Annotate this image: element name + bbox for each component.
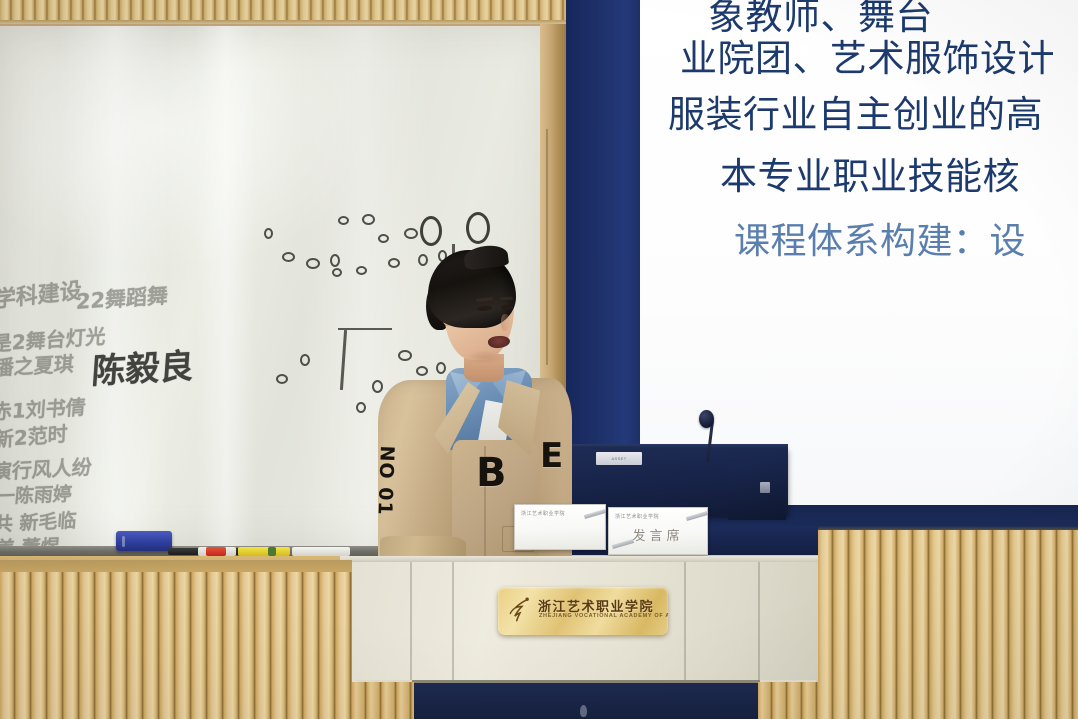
slide-text-line: 本专业职业技能核 <box>720 146 1020 200</box>
green-marker-cap <box>268 547 276 556</box>
laptop-asset-sticker: ASSET <box>596 452 642 465</box>
jacket-sleeve-text: NO 01 <box>374 445 398 516</box>
whiteboard-circle-mark <box>282 252 295 262</box>
nose <box>501 314 510 331</box>
whiteboard-circle-mark <box>356 266 367 275</box>
whiteboard-circle-mark <box>356 402 366 413</box>
lectern-panel-seam <box>758 562 760 682</box>
whiteboard-handwriting: 新2范时 <box>0 417 68 453</box>
lectern-base-recess <box>412 680 762 719</box>
whiteboard-handwriting: 学科建设 <box>0 273 82 314</box>
whiteboard-circle-mark <box>332 268 342 277</box>
name-card-logo-right: 浙江艺术职业学院 <box>615 513 659 520</box>
wood-slat-wall-lower-right <box>758 682 820 719</box>
name-card-left[interactable]: 浙江艺术职业学院 <box>514 504 606 550</box>
projection-screen: 象教师、舞台业院团、艺术服饰设计服装行业自主创业的高本专业职业技能核课程体系构建… <box>640 0 1078 505</box>
slide-text-line: 课程体系构建：设 <box>734 212 1026 264</box>
whiteboard-circle-mark <box>404 228 418 239</box>
gooseneck-microphone[interactable] <box>699 410 714 428</box>
white-marker[interactable] <box>292 547 350 556</box>
whiteboard-circle-mark <box>362 214 375 225</box>
whiteboard-glare-band <box>196 26 256 546</box>
lectern-panel-seam <box>410 562 412 682</box>
whiteboard-circle-mark <box>378 234 389 243</box>
lectern-panel-seam <box>684 562 686 682</box>
jacket-letter-b-graphic: B <box>476 450 507 496</box>
whiteboard-circle-mark <box>300 354 310 366</box>
red-marker[interactable] <box>206 547 226 556</box>
whiteboard-handwriting: 22舞蹈舞 <box>75 279 169 316</box>
whiteboard-handwriting: 陈毅良 <box>90 339 195 394</box>
dancer-logo-icon <box>507 596 533 622</box>
plaque-english-name: ZHEJIANG VOCATIONAL ACADEMY OF ART <box>539 613 668 619</box>
wood-slat-wall-lower-left <box>352 682 414 719</box>
whiteboard-circle-large <box>420 216 442 246</box>
whiteboard-circle-mark <box>306 258 320 269</box>
whiteboard-handwriting: 潘之夏琪 <box>0 348 75 381</box>
screen-left-dark-border <box>566 0 646 520</box>
whiteboard-circle-mark <box>330 254 340 267</box>
lecture-hall-scene: 学科建设22舞蹈舞陈毅良是2舞台灯光潘之夏琪赤1刘书倩新2范时演行风人纷一陈雨婷… <box>0 0 1078 719</box>
whiteboard-circle-mark <box>264 228 273 239</box>
slide-text-line: 业院团、艺术服饰设计 <box>680 28 1055 82</box>
whiteboard-circle-mark <box>276 374 288 384</box>
ceiling-wood-slat-panel <box>0 0 572 22</box>
institution-plaque: 浙江艺术职业学院 ZHEJIANG VOCATIONAL ACADEMY OF … <box>498 587 668 635</box>
wood-slat-wall-right <box>818 530 1078 719</box>
whiteboard-circle-large <box>466 212 490 244</box>
laptop-port-indicator <box>760 482 770 493</box>
slide-text-line: 服装行业自主创业的高 <box>668 84 1043 138</box>
laptop-right-panel <box>728 462 786 520</box>
whiteboard-vertical-stroke <box>340 330 347 390</box>
eye-right <box>501 305 513 310</box>
whiteboard-circle-mark <box>338 216 349 225</box>
lectern-panel-seam <box>452 562 454 682</box>
jacket-letter-e-graphic: E <box>540 436 563 476</box>
name-card-logo-left: 浙江艺术职业学院 <box>521 510 565 517</box>
chin-shadow <box>464 350 506 364</box>
whiteboard-handwriting: 一陈雨婷 <box>0 479 73 509</box>
mouth <box>488 335 511 349</box>
whiteboard-eraser[interactable] <box>116 531 172 551</box>
wood-slat-wall-left <box>0 572 352 719</box>
yellow-marker[interactable] <box>238 547 290 556</box>
